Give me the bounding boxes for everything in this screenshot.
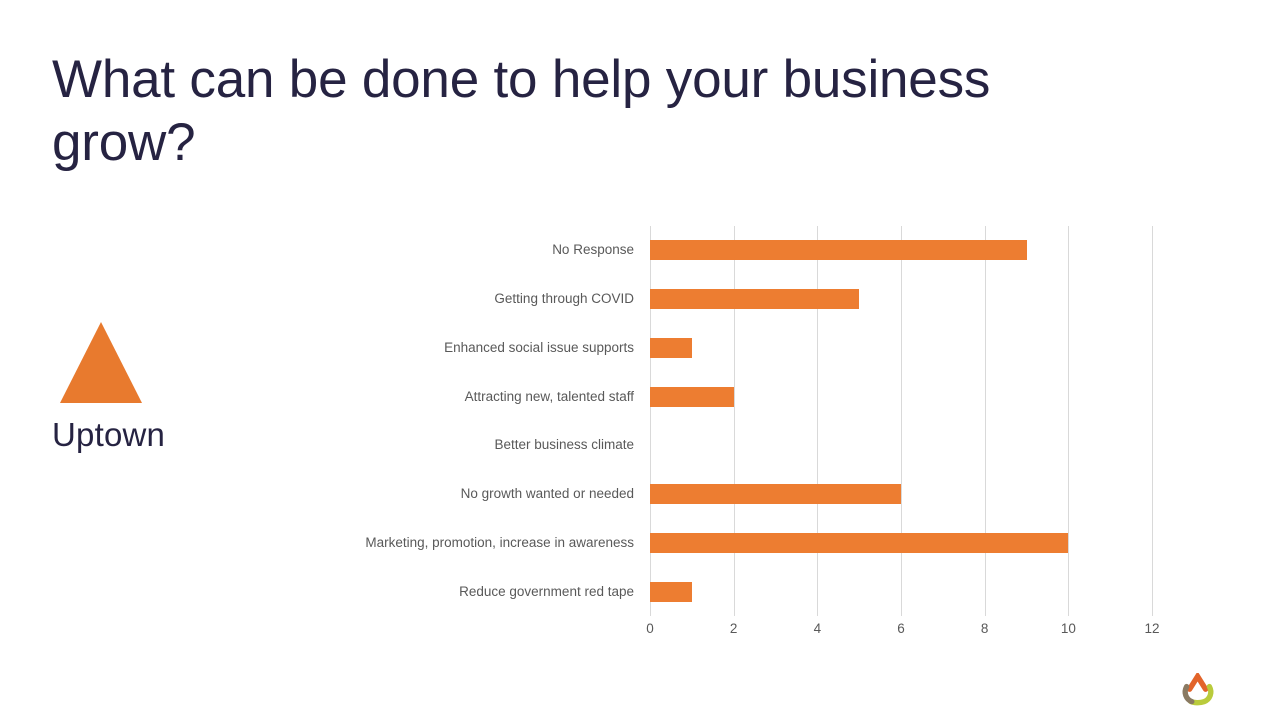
bar: [650, 289, 859, 309]
category-label: Enhanced social issue supports: [334, 340, 634, 356]
bar: [650, 387, 734, 407]
x-tick-label: 10: [1061, 621, 1076, 637]
x-tick-label: 0: [646, 621, 654, 637]
chart-plot-area: [650, 226, 1152, 616]
category-label: Marketing, promotion, increase in awaren…: [334, 535, 634, 551]
gridline: [1152, 226, 1153, 616]
x-tick-label: 6: [897, 621, 905, 637]
category-label: Attracting new, talented staff: [334, 389, 634, 405]
bar: [650, 338, 692, 358]
x-tick-label: 4: [814, 621, 822, 637]
x-tick-label: 8: [981, 621, 989, 637]
bar: [650, 484, 901, 504]
brand-block: Uptown: [52, 322, 282, 455]
gridline: [1068, 226, 1069, 616]
gridline: [985, 226, 986, 616]
bar: [650, 240, 1027, 260]
chart-category-axis: No ResponseGetting through COVIDEnhanced…: [330, 226, 642, 616]
gridline: [650, 226, 651, 616]
slide-canvas: What can be done to help your business g…: [0, 0, 1280, 720]
category-label: No Response: [334, 242, 634, 258]
category-label: Reduce government red tape: [334, 584, 634, 600]
bar: [650, 533, 1068, 553]
page-title: What can be done to help your business g…: [52, 48, 1042, 174]
chart-value-axis: 024681012: [650, 616, 1152, 640]
tri-swirl-logo-icon: [1180, 673, 1216, 707]
x-tick-label: 12: [1144, 621, 1159, 637]
gridline: [901, 226, 902, 616]
category-label: No growth wanted or needed: [334, 486, 634, 502]
bar: [650, 582, 692, 602]
brand-name: Uptown: [52, 415, 282, 455]
gridline: [734, 226, 735, 616]
gridline: [817, 226, 818, 616]
category-label: Getting through COVID: [334, 291, 634, 307]
x-tick-label: 2: [730, 621, 738, 637]
triangle-icon: [60, 322, 142, 403]
category-label: Better business climate: [334, 437, 634, 453]
bar-chart: No ResponseGetting through COVIDEnhanced…: [330, 226, 1160, 636]
